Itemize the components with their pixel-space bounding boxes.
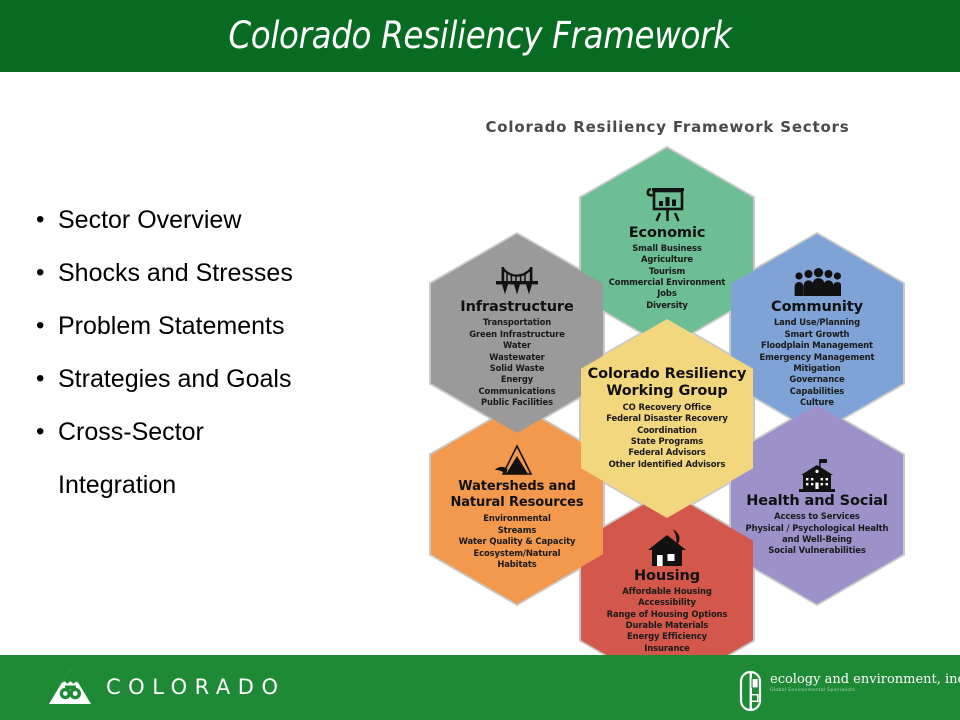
hex-title-line2: Working Group bbox=[606, 384, 727, 399]
hex-title: Economic bbox=[629, 226, 706, 241]
hex-item-list: Access to Services Physical / Psychologi… bbox=[746, 511, 889, 557]
bullet-marker-icon: • bbox=[36, 417, 58, 447]
bullet-label: Strategies and Goals bbox=[58, 364, 291, 394]
hex-item: and Well-Being bbox=[746, 534, 889, 545]
ee-tagline: Global Environmental Specialists bbox=[770, 687, 960, 694]
bullet-label-continuation: Integration bbox=[36, 470, 406, 500]
bridge-icon bbox=[493, 258, 541, 298]
hex-item: Range of Housing Options bbox=[607, 609, 728, 620]
hex-item: Public Facilities bbox=[469, 397, 565, 408]
hex-item: Mitigation bbox=[760, 363, 875, 374]
institution-building-icon bbox=[795, 452, 839, 492]
hex-item: Insurance bbox=[607, 643, 728, 654]
bullet-marker-icon: • bbox=[36, 258, 58, 288]
bullet-list: • Sector Overview • Shocks and Stresses … bbox=[36, 205, 406, 500]
hex-item: Capabilities bbox=[760, 386, 875, 397]
hex-item-list: Land Use/Planning Smart Growth Floodplai… bbox=[760, 317, 875, 408]
house-icon bbox=[646, 527, 688, 567]
hex-item: Wastewater bbox=[469, 352, 565, 363]
bullet-marker-icon: • bbox=[36, 311, 58, 341]
hex-title: Housing bbox=[634, 569, 700, 584]
bullet-label: Shocks and Stresses bbox=[58, 258, 293, 288]
bullet-label: Cross-Sector bbox=[58, 417, 204, 447]
hex-item: Agriculture bbox=[609, 254, 725, 265]
people-group-icon bbox=[793, 258, 841, 298]
presentation-chart-icon bbox=[644, 184, 690, 224]
hex-item: Coordination bbox=[606, 425, 728, 436]
hex-item: Habitats bbox=[459, 559, 576, 570]
hex-title-line1: Colorado Resiliency bbox=[588, 367, 747, 382]
hex-item: Land Use/Planning bbox=[760, 317, 875, 328]
hex-item: Commercial Environment bbox=[609, 277, 725, 288]
hex-item: Environmental bbox=[459, 513, 576, 524]
hex-center-working-group[interactable]: Colorado Resiliency Working Group CO Rec… bbox=[581, 319, 753, 518]
list-item: • Problem Statements bbox=[36, 311, 406, 341]
hex-item: Communications bbox=[469, 386, 565, 397]
hex-title-line2: Natural Resources bbox=[450, 496, 583, 510]
list-item: • Shocks and Stresses bbox=[36, 258, 406, 288]
hex-item: Accessibility bbox=[607, 597, 728, 608]
hex-item-list: Affordable Housing Accessibility Range o… bbox=[607, 586, 728, 654]
ee-company-name: ecology and environment, inc. bbox=[770, 673, 960, 687]
bullet-marker-icon: • bbox=[36, 205, 58, 235]
hex-sector-infrastructure[interactable]: Infrastructure Transportation Green Infr… bbox=[431, 234, 603, 433]
bullet-label: Problem Statements bbox=[58, 311, 285, 341]
resiliency-sectors-diagram: Colorado Resiliency Framework Sectors bbox=[415, 118, 920, 638]
hex-item: Jobs bbox=[609, 288, 725, 299]
hex-sector-health-and-social[interactable]: Health and Social Access to Services Phy… bbox=[731, 405, 903, 604]
hex-item: Federal Disaster Recovery bbox=[606, 413, 728, 424]
hex-item: Diversity bbox=[609, 300, 725, 311]
hex-item: Smart Growth bbox=[760, 329, 875, 340]
hex-item: Social Vulnerabilities bbox=[746, 545, 889, 556]
hex-item: Transportation bbox=[469, 317, 565, 328]
hex-item: Streams bbox=[459, 525, 576, 536]
bullet-label: Sector Overview bbox=[58, 205, 241, 235]
hex-title: Infrastructure bbox=[460, 300, 573, 315]
hex-item: Affordable Housing bbox=[607, 586, 728, 597]
hex-item: Ecosystem/Natural bbox=[459, 548, 576, 559]
hex-item: Energy bbox=[469, 374, 565, 385]
colorado-logo: COLORADO bbox=[48, 668, 285, 706]
hex-item-list: CO Recovery Office Federal Disaster Reco… bbox=[606, 402, 728, 470]
list-item: • Sector Overview bbox=[36, 205, 406, 235]
hex-sector-economic[interactable]: Economic Small Business Agriculture Tour… bbox=[581, 148, 753, 347]
list-item: • Cross-Sector bbox=[36, 417, 406, 447]
hex-item: Water bbox=[469, 340, 565, 351]
colorado-mountain-icon bbox=[48, 668, 92, 706]
hex-item: Emergency Management bbox=[760, 352, 875, 363]
mountain-icon bbox=[493, 438, 541, 478]
hex-item-list: Small Business Agriculture Tourism Comme… bbox=[609, 243, 725, 311]
hex-title: Community bbox=[771, 300, 863, 315]
hex-item: Solid Waste bbox=[469, 363, 565, 374]
colorado-wordmark: COLORADO bbox=[106, 675, 285, 699]
hex-item: Small Business bbox=[609, 243, 725, 254]
hex-item-list: Environmental Streams Water Quality & Ca… bbox=[459, 513, 576, 570]
hex-sector-community[interactable]: Community Land Use/Planning Smart Growth… bbox=[731, 234, 903, 433]
hex-title: Health and Social bbox=[746, 494, 888, 509]
ecology-and-environment-logo: ecology and environment, inc. Global Env… bbox=[738, 670, 960, 712]
hex-item: Tourism bbox=[609, 266, 725, 277]
hex-item: Other Identified Advisors bbox=[606, 459, 728, 470]
ee-capsule-icon bbox=[738, 670, 764, 712]
hexagon-honeycomb: Economic Small Business Agriculture Tour… bbox=[415, 148, 920, 638]
hex-item: Energy Efficiency bbox=[607, 631, 728, 642]
hex-item: Durable Materials bbox=[607, 620, 728, 631]
hex-item: Physical / Psychological Health bbox=[746, 523, 889, 534]
bullet-marker-icon: • bbox=[36, 364, 58, 394]
hex-item: Green Infrastructure bbox=[469, 329, 565, 340]
list-item: • Strategies and Goals bbox=[36, 364, 406, 394]
hex-item: Federal Advisors bbox=[606, 447, 728, 458]
page-title: Colorado Resiliency Framework bbox=[58, 0, 903, 72]
hex-title-line1: Watersheds and bbox=[458, 480, 575, 494]
hex-item: CO Recovery Office bbox=[606, 402, 728, 413]
hex-item: Floodplain Management bbox=[760, 340, 875, 351]
hex-item: Governance bbox=[760, 374, 875, 385]
hex-sector-watersheds-and-natural-resources[interactable]: Watersheds and Natural Resources Environ… bbox=[431, 405, 603, 604]
diagram-title: Colorado Resiliency Framework Sectors bbox=[415, 118, 920, 136]
hex-item: Access to Services bbox=[746, 511, 889, 522]
hex-item-list: Transportation Green Infrastructure Wate… bbox=[469, 317, 565, 408]
hex-item: Water Quality & Capacity bbox=[459, 536, 576, 547]
hex-item: State Programs bbox=[606, 436, 728, 447]
